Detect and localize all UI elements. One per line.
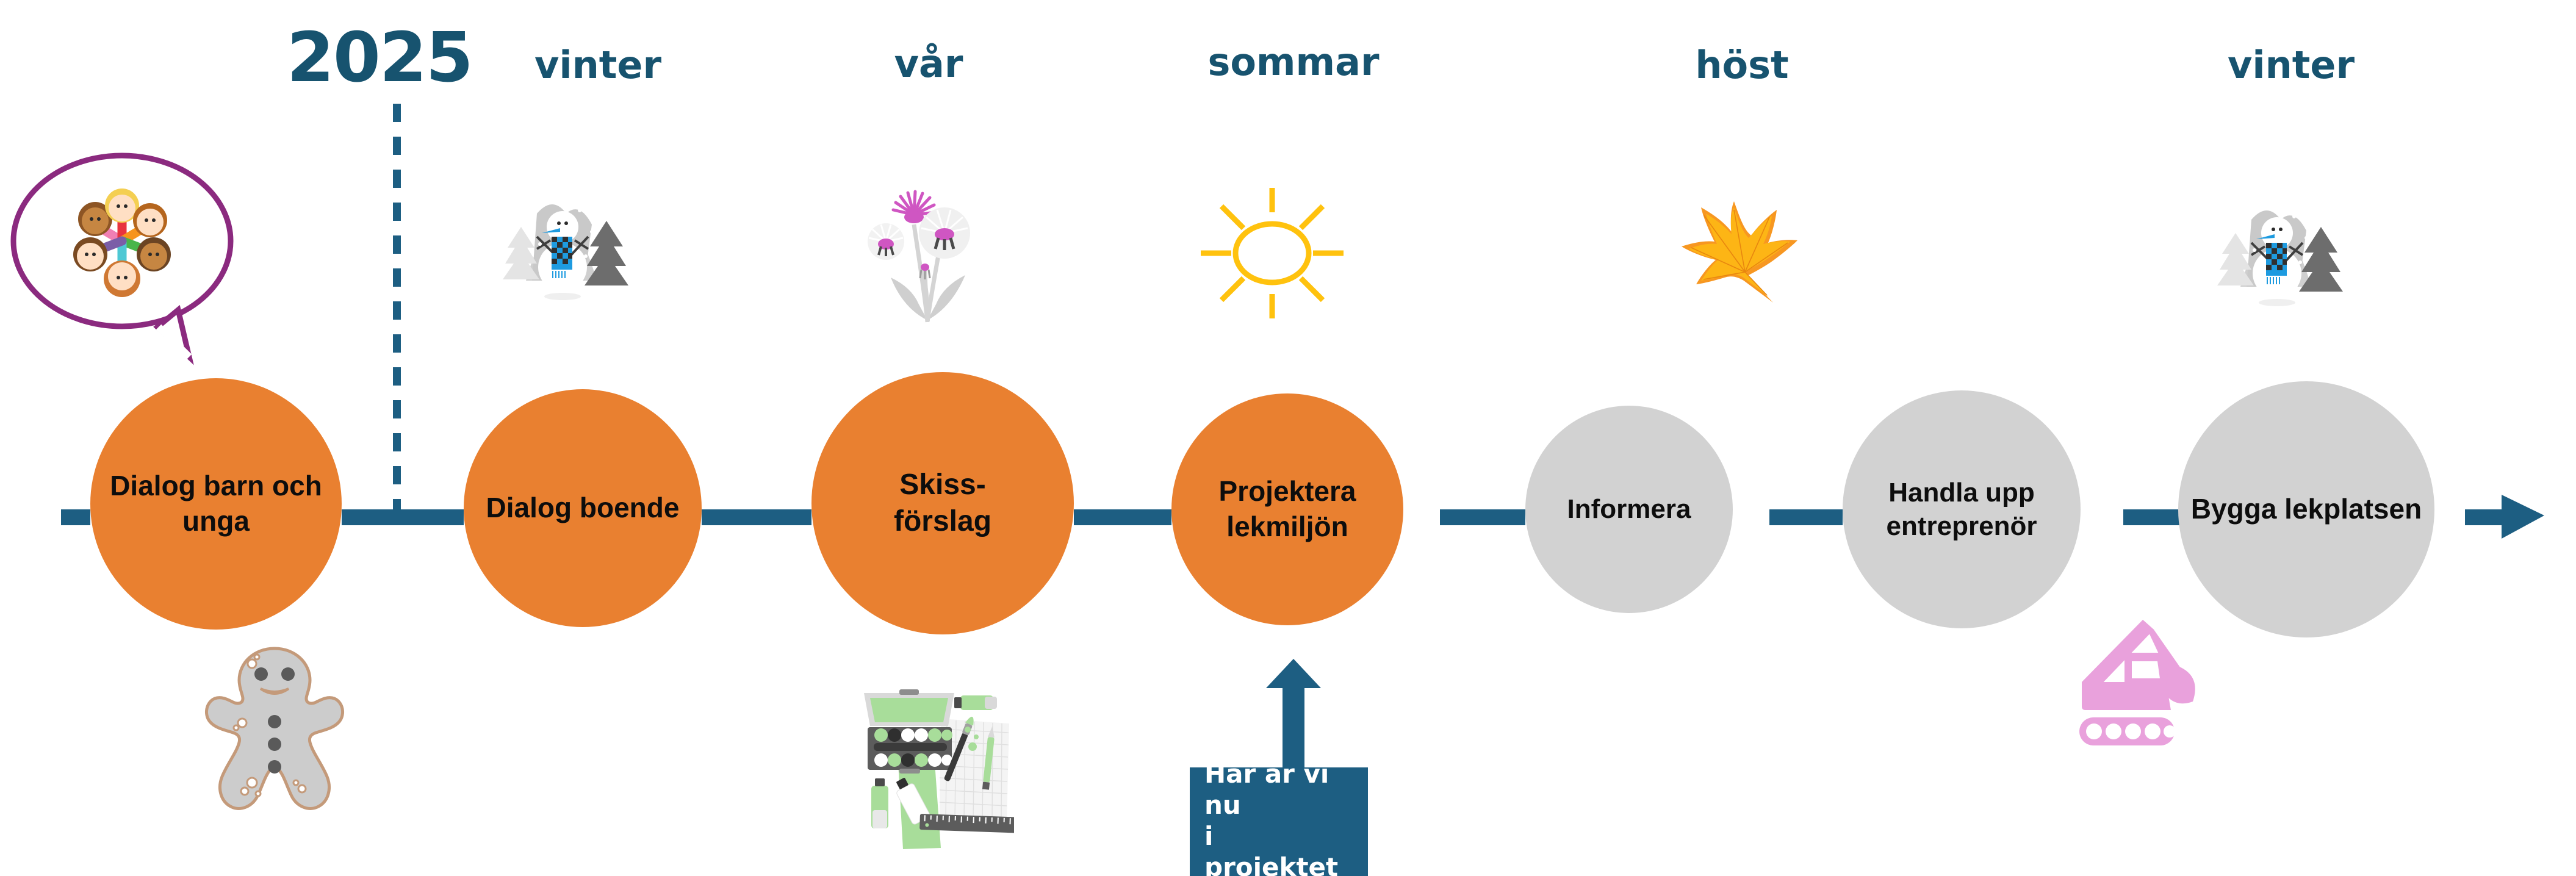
timeline-end-arrow-icon [2502,484,2569,551]
current-position-arrow-icon [1257,659,1330,769]
snowman-winter-icon [2209,183,2349,336]
timeline-node-label: Bygga lekplatsen [2182,492,2430,527]
season-label-sommar: sommar [1207,40,1379,84]
gingerbread-man-icon [204,637,345,839]
timeline-node-label: Handla upp entreprenör [1843,476,2081,544]
connector-4-5 [1440,509,1525,525]
timeline-node-informera[interactable]: Informera [1525,406,1733,613]
year-label: 2025 [287,18,472,98]
callout-line-2: i projektet [1204,820,1355,876]
timeline-node-handla-upp[interactable]: Handla upp entreprenör [1843,390,2081,628]
excavator-icon [2068,610,2221,750]
snowman-winter-icon [494,177,635,329]
timeline-node-label: Projektera lekmiljön [1171,474,1403,545]
timeline-node-bygga-lekplatsen[interactable]: Bygga lekplatsen [2178,381,2434,637]
art-supplies-icon [843,671,1014,854]
timeline-node-projektera-lekmiljon[interactable]: Projektera lekmiljön [1171,393,1403,625]
connector-5-6 [1769,509,1843,525]
season-label-vinter-2: vinter [2228,43,2355,87]
timeline-start-cap [61,509,90,525]
season-label-host: höst [1695,43,1788,87]
timeline-node-dialog-barn-och-unga[interactable]: Dialog barn och unga [90,378,342,630]
sun-summer-icon [1196,177,1348,329]
timeline-node-skissforslag[interactable]: Skiss- förslag [811,372,1074,634]
timeline-node-label: Dialog barn och unga [90,469,342,539]
connector-2-3 [702,509,811,525]
season-label-var: vår [894,41,963,86]
maple-leaf-autumn-icon [1666,183,1806,323]
timeline-node-label: Skiss- förslag [885,467,1000,540]
timeline-diagram: 2025 vinter vår sommar höst vinter [0,0,2576,876]
children-speech-bubble-icon [6,146,250,381]
timeline-node-label: Dialog boende [478,490,688,526]
connector-1-2 [342,509,464,525]
timeline-node-label: Informera [1559,492,1700,526]
year-divider-dashed-line [393,104,401,515]
timeline-node-dialog-boende[interactable]: Dialog boende [464,389,702,627]
season-label-vinter-1: vinter [534,43,661,87]
callout-line-1: Här är vi nu [1204,758,1355,820]
dandelion-spring-icon [854,177,1001,329]
connector-3-4 [1074,509,1171,525]
current-position-callout: Här är vi nu i projektet [1190,767,1368,876]
